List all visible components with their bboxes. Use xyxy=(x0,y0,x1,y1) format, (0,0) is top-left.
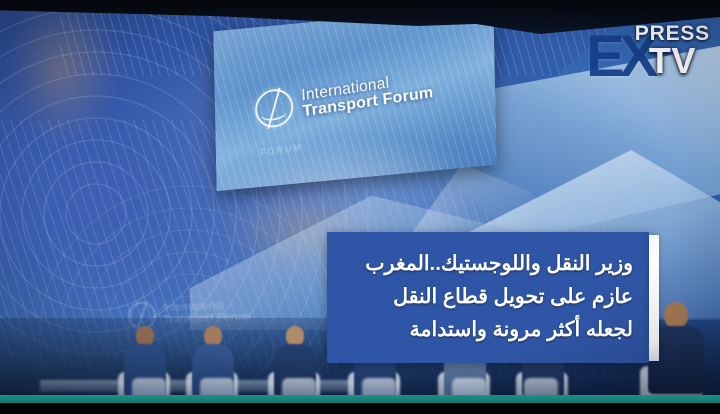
itf-logo-line2: Transport Forum xyxy=(302,85,434,120)
itf-globe-icon xyxy=(254,87,295,130)
caption-line-2: عازم على تحويل قطاع النقل xyxy=(339,281,633,312)
panelist-head xyxy=(204,326,222,346)
channel-logo-tv-text: TV xyxy=(635,44,710,79)
caption-text-block: وزير النقل واللوجستيك..المغرب عازم على ت… xyxy=(327,232,649,363)
channel-logo: EX PRESS TV xyxy=(586,20,712,90)
lower-third-caption: وزير النقل واللوجستيك..المغرب عازم على ت… xyxy=(327,232,649,363)
itf-logo-words: International Transport Forum xyxy=(301,69,434,120)
caption-accent-bar xyxy=(649,235,659,361)
itf-logo-subtext: FORUM xyxy=(260,142,304,158)
itf-logo: International Transport Forum xyxy=(254,66,434,130)
caption-line-3: لجعله أكثر مرونة واستدامة xyxy=(339,314,633,345)
panelist-head xyxy=(664,302,688,328)
channel-logo-wordmark: PRESS TV xyxy=(635,24,710,79)
bottom-black-bar xyxy=(0,403,720,414)
stage-led-screen: International Transport Forum FORUM xyxy=(213,5,496,191)
bottom-teal-bar xyxy=(0,395,720,403)
panelist-head xyxy=(286,326,304,346)
panelist-head xyxy=(136,326,154,346)
broadcast-frame: International Transport Forum FORUM Inte… xyxy=(0,0,720,414)
caption-line-1: وزير النقل واللوجستيك..المغرب xyxy=(339,248,633,279)
itf-logo-line1: International xyxy=(301,69,433,104)
